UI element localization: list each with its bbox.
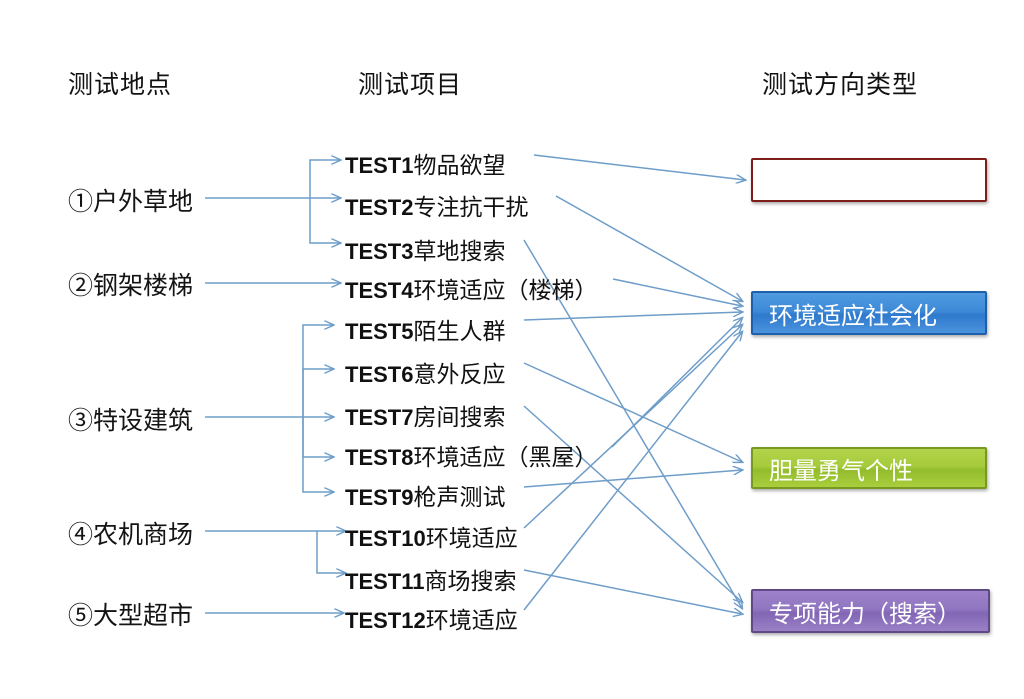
diagram-canvas: 测试地点 测试项目 测试方向类型 ①户外草地②钢架楼梯③特设建筑④农机商场⑤大型… [0,0,1024,699]
wire-loc3-test9 [303,417,333,492]
test-item-test8: TEST8环境适应（黑屋） [345,438,597,472]
wire-loc3-test6 [303,369,333,417]
test-item-name: 环境适应（楼梯） [413,278,597,303]
direction-category-special-ability-search[interactable]: 专项能力（搜索） [751,589,990,633]
wire-test1-red [534,155,745,180]
test-item-test3: TEST3草地搜索 [345,232,505,266]
test-item-name: 陌生人群 [413,319,505,344]
test-item-code: TEST5 [345,319,413,344]
test-item-test2: TEST2专注抗干扰 [345,188,528,222]
wire-test11-purple [524,570,742,614]
column-header-directions: 测试方向类型 [762,65,918,101]
test-item-name: 环境适应 [426,608,518,633]
test-item-name: 意外反应 [413,362,505,387]
test-item-name: 商场搜索 [424,569,516,594]
test-item-code: TEST9 [345,485,413,510]
wire-test5-blue [524,312,742,320]
direction-category-courage-personality[interactable]: 胆量勇气个性 [751,447,987,489]
location-item-2: ②钢架楼梯 [68,266,193,302]
test-item-test5: TEST5陌生人群 [345,312,505,346]
test-item-test10: TEST10环境适应 [345,519,518,553]
wire-loc1-test3 [310,198,340,243]
location-item-1: ①户外草地 [68,182,193,218]
test-item-code: TEST2 [345,195,413,220]
test-item-test1: TEST1物品欲望 [345,146,505,180]
wire-test9-green [524,470,742,487]
wire-loc1-test1 [310,160,340,198]
test-item-test11: TEST11商场搜索 [345,562,516,596]
wire-test7-purple [524,406,742,602]
test-item-test4: TEST4环境适应（楼梯） [345,271,597,305]
test-item-name: 枪声测试 [413,485,505,510]
test-item-code: TEST1 [345,153,413,178]
column-header-items: 测试项目 [358,65,462,101]
test-item-code: TEST12 [345,608,426,633]
wire-test4-blue [613,279,742,306]
test-item-code: TEST8 [345,445,413,470]
test-item-name: 草地搜索 [413,239,505,264]
test-item-name: 物品欲望 [413,153,505,178]
wire-loc4-test11 [317,531,345,573]
test-item-test6: TEST6意外反应 [345,355,505,389]
wire-test10-blue [524,325,742,528]
test-item-name: 环境适应 [426,526,518,551]
test-item-test9: TEST9枪声测试 [345,478,505,512]
test-item-test7: TEST7房间搜索 [345,398,505,432]
location-item-5: ⑤大型超市 [68,596,193,632]
test-item-code: TEST4 [345,278,413,303]
test-item-code: TEST3 [345,239,413,264]
wire-loc3-test5 [303,325,333,417]
wire-loc3-test8 [303,417,333,457]
test-item-name: 专注抗干扰 [413,195,528,220]
direction-category-hunting-drive[interactable]: 猎捕动力 [751,158,987,202]
location-item-3: ③特设建筑 [68,401,193,437]
test-item-code: TEST11 [345,569,424,594]
test-item-name: 房间搜索 [413,405,505,430]
test-item-test12: TEST12环境适应 [345,601,518,635]
test-item-name: 环境适应（黑屋） [413,445,597,470]
test-item-code: TEST7 [345,405,413,430]
test-item-code: TEST6 [345,362,413,387]
test-item-code: TEST10 [345,526,426,551]
direction-category-environment-socialization[interactable]: 环境适应社会化 [751,291,987,335]
location-item-4: ④农机商场 [68,515,193,551]
column-header-locations: 测试地点 [68,65,172,101]
